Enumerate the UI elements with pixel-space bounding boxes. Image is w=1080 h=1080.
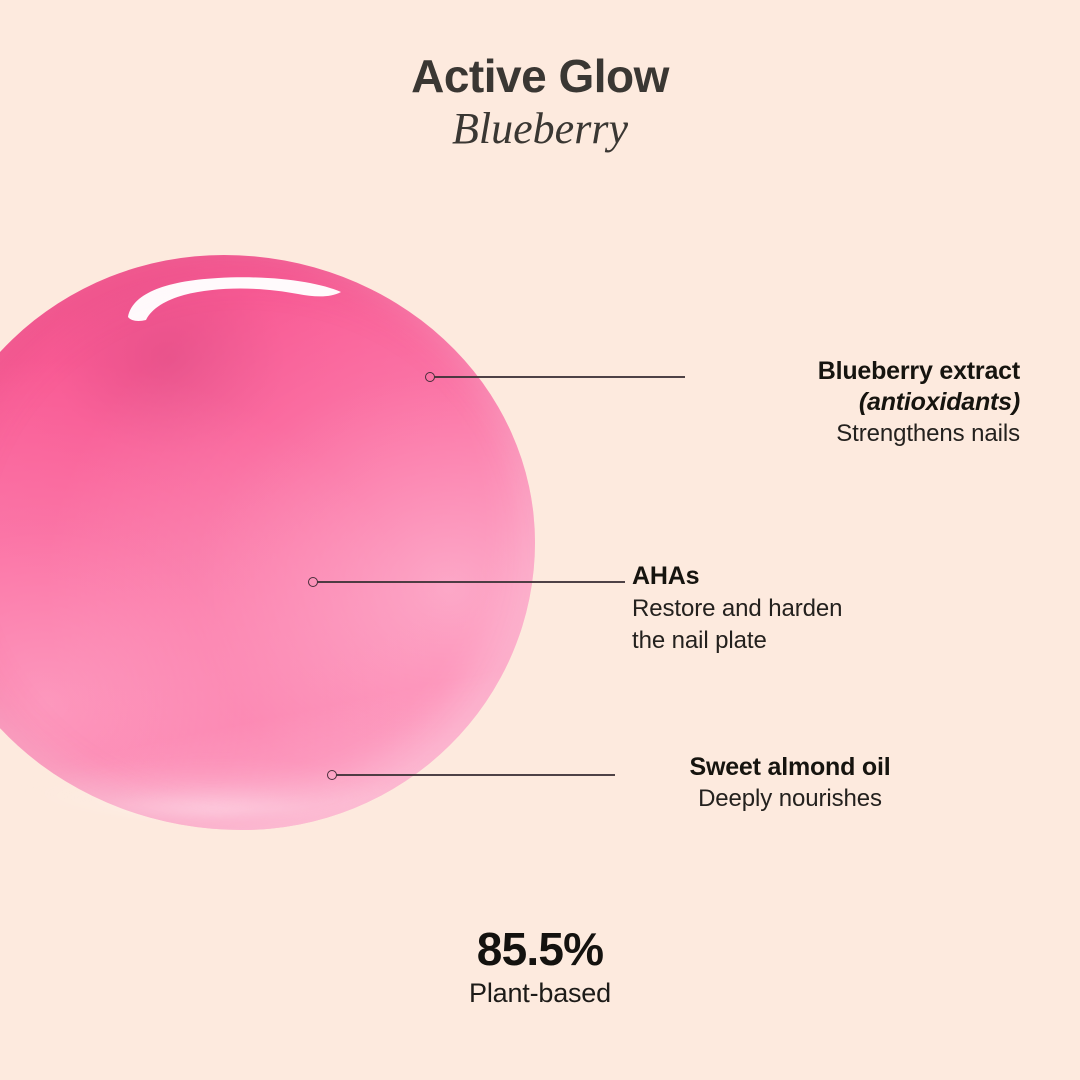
callout-headline: AHAs xyxy=(632,561,972,592)
callout-subline-line-2: the nail plate xyxy=(632,626,972,656)
leader-line-ahas xyxy=(308,577,625,579)
product-infographic: Active Glow Blueberry Blueberry extract … xyxy=(0,0,1080,1080)
polish-droplet xyxy=(0,255,535,830)
stat-label: Plant-based xyxy=(0,977,1080,1009)
leader-stroke xyxy=(434,376,685,378)
callout-headline: Blueberry extract xyxy=(690,356,1020,387)
stat-value: 85.5% xyxy=(0,925,1080,975)
leader-stroke xyxy=(317,581,625,583)
callout-subline-line-1: Restore and harden xyxy=(632,594,972,624)
leader-stroke xyxy=(336,774,615,776)
plant-based-stat: 85.5% Plant-based xyxy=(0,925,1080,1009)
leader-line-sweet-almond-oil xyxy=(327,770,615,772)
callout-ahas: AHAs Restore and harden the nail plate xyxy=(632,561,972,656)
page-title: Active Glow xyxy=(0,52,1080,101)
title-block: Active Glow Blueberry xyxy=(0,52,1080,154)
callout-blueberry-extract: Blueberry extract (antioxidants) Strengt… xyxy=(690,356,1020,449)
callout-headline: Sweet almond oil xyxy=(600,752,980,783)
product-variant-name: Blueberry xyxy=(0,104,1080,155)
callout-headline-italic: (antioxidants) xyxy=(690,387,1020,418)
callout-subline: Strengthens nails xyxy=(690,419,1020,449)
droplet-body xyxy=(0,255,535,830)
leader-line-blueberry-extract xyxy=(425,372,685,374)
callout-sweet-almond-oil: Sweet almond oil Deeply nourishes xyxy=(600,752,980,814)
callout-subline: Deeply nourishes xyxy=(600,784,980,814)
